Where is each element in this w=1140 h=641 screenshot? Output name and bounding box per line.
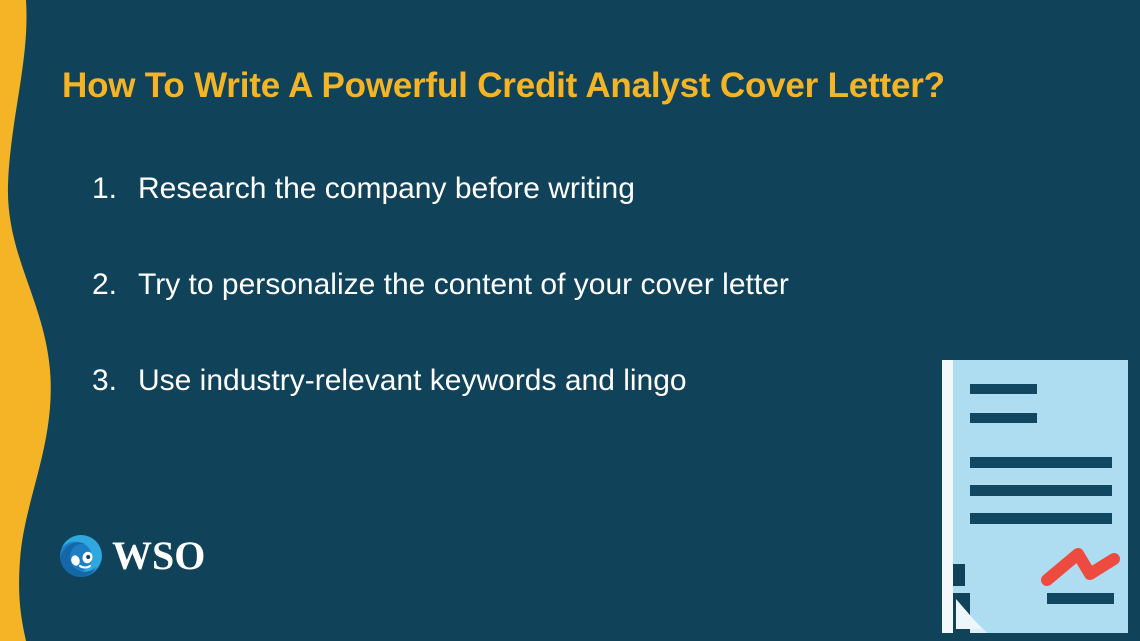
- list-item: 3. Use industry-relevant keywords and li…: [92, 364, 992, 460]
- list-item-label: Use industry-relevant keywords and lingo: [138, 364, 687, 398]
- list-item-number: 3.: [92, 364, 138, 398]
- wso-logo: WSO: [58, 530, 205, 582]
- tips-list: 1. Research the company before writing 2…: [92, 172, 992, 460]
- list-item-label: Try to personalize the content of your c…: [138, 268, 789, 302]
- list-item-label: Research the company before writing: [138, 172, 635, 206]
- slide-canvas: How To Write A Powerful Credit Analyst C…: [0, 0, 1140, 641]
- wso-monkey-icon: [58, 533, 104, 579]
- wso-wordmark: WSO: [112, 536, 205, 576]
- list-item-number: 2.: [92, 268, 138, 302]
- page-title: How To Write A Powerful Credit Analyst C…: [62, 66, 1122, 106]
- list-item: 1. Research the company before writing: [92, 172, 992, 268]
- list-item: 2. Try to personalize the content of you…: [92, 268, 992, 364]
- document-illustration: [930, 352, 1140, 641]
- list-item-number: 1.: [92, 172, 138, 206]
